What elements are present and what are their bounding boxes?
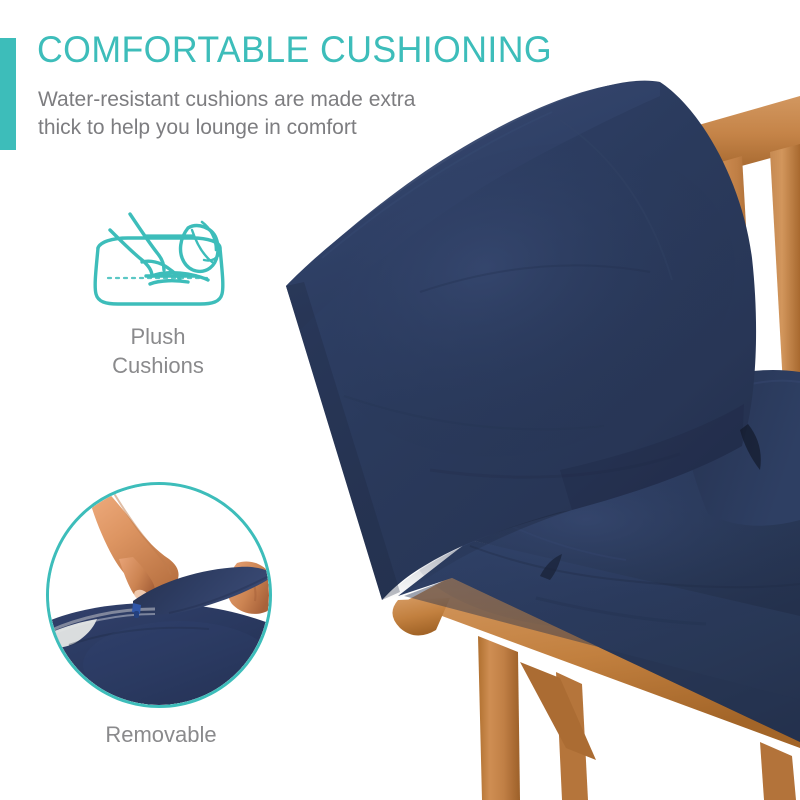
seat-cushion <box>398 452 800 742</box>
removable-label: Removable <box>48 722 274 748</box>
plush-cushions-label: Plush Cushions <box>58 322 258 380</box>
page-subtitle-line1: Water-resistant cushions are made extra <box>38 86 538 114</box>
removable-cover-photo <box>46 482 272 708</box>
wood-seat-frame <box>392 576 800 800</box>
page-subtitle-line2: thick to help you lounge in comfort <box>38 114 538 142</box>
back-cushion <box>284 81 776 600</box>
page-title: COMFORTABLE CUSHIONING <box>37 31 552 68</box>
wood-backrest-frame <box>688 96 800 488</box>
page-subtitle: Water-resistant cushions are made extra … <box>38 86 538 143</box>
plush-cushions-label-line1: Plush <box>58 322 258 351</box>
product-feature-graphic: COMFORTABLE CUSHIONING Water-resistant c… <box>0 0 800 800</box>
removable-cover-photo-inner <box>49 485 269 705</box>
plush-cushion-icon <box>84 200 234 312</box>
plush-cushions-label-line2: Cushions <box>58 351 258 380</box>
cushion-fold-shadow <box>740 424 761 470</box>
accent-bar <box>0 38 16 150</box>
side-bolster-cushion <box>672 370 800 526</box>
